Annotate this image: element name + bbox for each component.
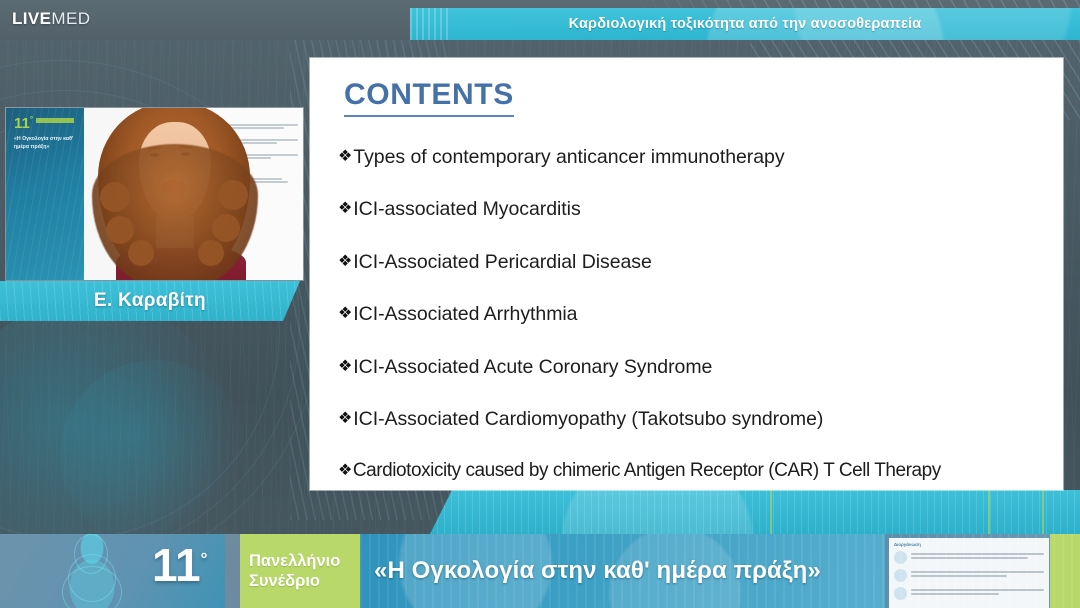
- list-item: ❖ICI-Associated Cardiomyopathy (Takotsub…: [338, 408, 1055, 431]
- list-item-text: ICI-Associated Pericardial Disease: [353, 251, 652, 274]
- session-title-text: Καρδιολογική τοξικότητα από την ανοσοθερ…: [410, 8, 1080, 40]
- logo-med-text: MED: [51, 9, 90, 28]
- diamond-bullet-icon: ❖: [338, 303, 352, 325]
- speaker-hair-curls: [92, 144, 258, 280]
- organizers-card: Διοργάνωση: [889, 538, 1049, 608]
- list-item-text: Types of contemporary anticancer immunot…: [353, 146, 784, 169]
- diamond-bullet-icon: ❖: [338, 198, 352, 220]
- diamond-bullet-icon: ❖: [338, 356, 352, 378]
- organizer-logo-icon: [894, 569, 907, 582]
- list-item-text: ICI-Associated Arrhythmia: [353, 303, 577, 326]
- list-item: ❖ICI-Associated Acute Coronary Syndrome: [338, 356, 1055, 379]
- speaker-curl: [212, 214, 240, 242]
- list-item-text: ICI-Associated Cardiomyopathy (Takotsubo…: [353, 408, 823, 431]
- organizer-logo-icon: [894, 551, 907, 564]
- speaker-portrait: [90, 108, 260, 280]
- list-item-text: Cardiotoxicity caused by chimeric Antige…: [353, 460, 941, 483]
- footer-congress-label: Πανελλήνιο Συνέδριο: [240, 534, 360, 608]
- diamond-bullet-icon: ❖: [338, 251, 352, 273]
- speaker-curl: [218, 180, 248, 210]
- list-item-text: ICI-associated Myocarditis: [353, 198, 580, 221]
- congress-footer-banner: 11° Πανελλήνιο Συνέδριο «Η Ογκολογία στη…: [0, 534, 1080, 608]
- list-item: ❖ICI-Associated Pericardial Disease: [338, 251, 1055, 274]
- speaker-curl: [106, 216, 134, 244]
- branding-accent-bar: [36, 118, 74, 123]
- livemed-logo[interactable]: LIVEMED: [12, 9, 90, 29]
- branding-edition-value: 11: [14, 115, 30, 132]
- branding-overlay-pattern: [6, 108, 84, 280]
- footer-edition-value: 11: [152, 539, 201, 591]
- footer-edition-degree: °: [201, 550, 208, 569]
- anatomical-figure-icon: [46, 534, 138, 608]
- footer-edition-number: 11°: [152, 542, 207, 588]
- organizers-heading: Διοργάνωση: [894, 542, 1044, 547]
- organizer-name-lines: [911, 587, 1044, 597]
- diamond-bullet-icon: ❖: [338, 460, 352, 482]
- organizer-logo-icon: [894, 587, 907, 600]
- diamond-bullet-icon: ❖: [338, 408, 352, 430]
- list-item-text: ICI-Associated Acute Coronary Syndrome: [353, 356, 712, 379]
- broadcast-stage: LIVEMED Καρδιολογική τοξικότητα από την …: [0, 0, 1080, 608]
- organizer-row: [894, 587, 1044, 600]
- list-item: ❖ICI-Associated Arrhythmia: [338, 303, 1055, 326]
- footer-theme-text: «Η Ογκολογία στην καθ' ημέρα πράξη»: [374, 557, 821, 585]
- list-item: ❖ICI-associated Myocarditis: [338, 198, 1055, 221]
- organizer-row: [894, 569, 1044, 582]
- session-title-bar: Καρδιολογική τοξικότητα από την ανοσοθερ…: [410, 8, 1080, 40]
- footer-congress-line-2: Συνέδριο: [249, 571, 360, 591]
- organizer-name-lines: [911, 569, 1044, 579]
- congress-branding-overlay: 11° «Η Ογκολογία στην καθ' ημέρα πράξη»: [6, 108, 84, 280]
- branding-overlay-subtitle: «Η Ογκολογία στην καθ' ημέρα πράξη»: [14, 135, 78, 151]
- list-item: ❖Types of contemporary anticancer immuno…: [338, 146, 1055, 169]
- organizer-name-lines: [911, 551, 1044, 561]
- presentation-slide[interactable]: CONTENTS ❖Types of contemporary anticanc…: [310, 58, 1063, 490]
- speaker-name-bar: Ε. Καραβίτη: [0, 281, 300, 321]
- speaker-video-panel[interactable]: 11° «Η Ογκολογία στην καθ' ημέρα πράξη»: [6, 108, 303, 280]
- speaker-name: Ε. Καραβίτη: [94, 290, 206, 312]
- speaker-webcam-feed: [84, 108, 303, 280]
- footer-green-edge: [1050, 534, 1080, 608]
- footer-congress-line-1: Πανελλήνιο: [249, 551, 360, 571]
- logo-live-text: LIVE: [12, 9, 51, 28]
- speaker-curl: [198, 240, 224, 266]
- diamond-bullet-icon: ❖: [338, 146, 352, 168]
- footer-theme-block: «Η Ογκολογία στην καθ' ημέρα πράξη»: [360, 534, 885, 608]
- speaker-video-frame: 11° «Η Ογκολογία στην καθ' ημέρα πράξη»: [6, 108, 303, 280]
- branding-edition-number: 11°: [14, 116, 33, 131]
- organizer-row: [894, 551, 1044, 564]
- branding-edition-degree: °: [30, 115, 33, 124]
- speaker-curl: [100, 182, 130, 212]
- speaker-curl: [128, 240, 154, 266]
- slide-title: CONTENTS: [344, 78, 514, 117]
- slide-bullet-list: ❖Types of contemporary anticancer immuno…: [338, 146, 1055, 512]
- list-item: ❖Cardiotoxicity caused by chimeric Antig…: [338, 460, 1055, 483]
